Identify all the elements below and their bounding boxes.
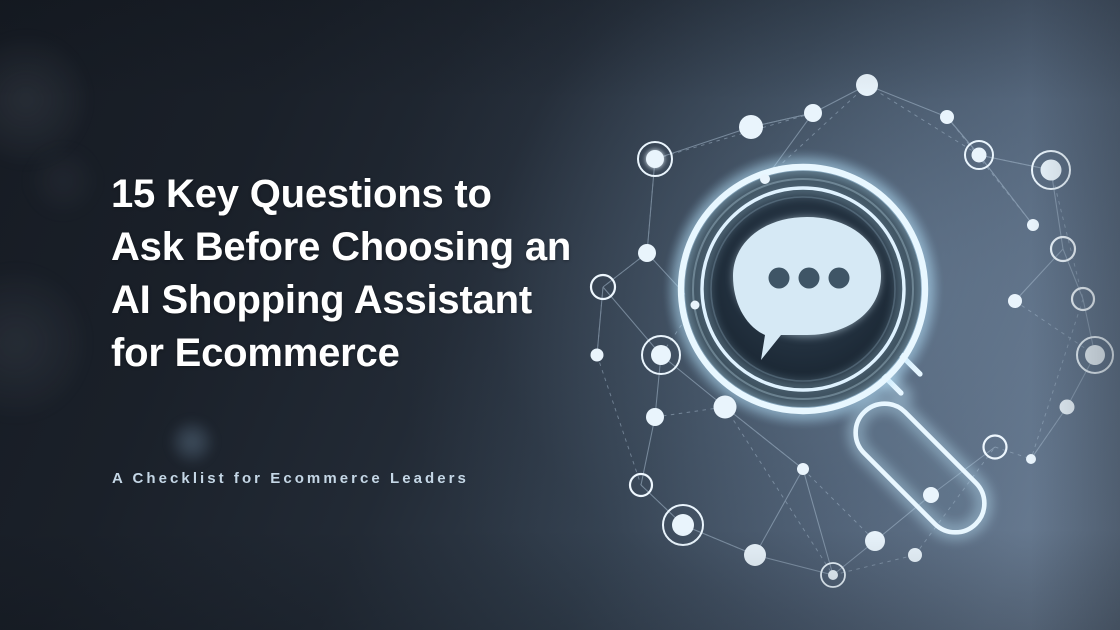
- slide-subtitle: A Checklist for Ecommerce Leaders: [112, 470, 469, 487]
- presentation-slide: 15 Key Questions to Ask Before Choosing …: [0, 0, 1120, 630]
- page-title: 15 Key Questions to Ask Before Choosing …: [111, 168, 573, 380]
- text-column: 15 Key Questions to Ask Before Choosing …: [111, 0, 581, 630]
